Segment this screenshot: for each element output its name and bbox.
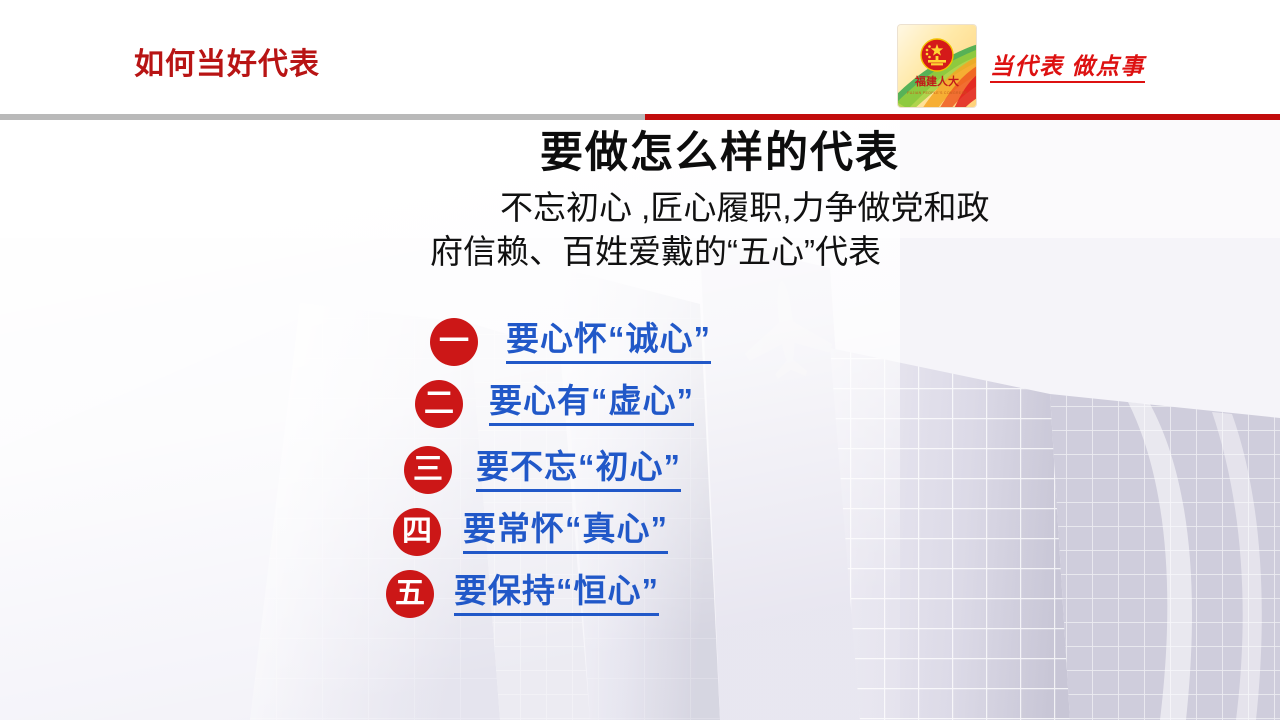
fujian-pc-logo: 福建人大 FUJIAN PEOPLE'S CONGRESS	[898, 25, 976, 107]
list-item[interactable]: 五 要保持“恒心”	[386, 566, 659, 622]
point-text[interactable]: 要保持“恒心”	[454, 572, 659, 616]
number-badge-four: 四	[393, 508, 441, 556]
point-text[interactable]: 要心有“虚心”	[489, 382, 694, 426]
list-item[interactable]: 二 要心有“虚心”	[415, 376, 694, 432]
point-text[interactable]: 要常怀“真心”	[463, 510, 668, 554]
main-title: 要做怎么样的代表	[430, 130, 1010, 177]
number-badge-two: 二	[415, 380, 463, 428]
logo-caption: 福建人大	[914, 74, 959, 88]
lead-paragraph: 不忘初心 ,匠心履职,力争做党和政府信赖、百姓爱戴的“五心”代表	[430, 186, 990, 274]
slide-header: 如何当好代表	[0, 0, 1280, 112]
number-badge-three: 三	[404, 446, 452, 494]
list-item[interactable]: 四 要常怀“真心”	[393, 504, 668, 560]
list-item[interactable]: 三 要不忘“初心”	[404, 442, 681, 498]
brand-slogan: 当代表 做点事	[990, 53, 1145, 83]
point-text[interactable]: 要心怀“诚心”	[506, 320, 711, 364]
slide: 如何当好代表	[0, 0, 1280, 720]
logo-caption-sub: FUJIAN PEOPLE'S CONGRESS	[907, 91, 967, 95]
number-badge-one: 一	[430, 318, 478, 366]
page-title: 如何当好代表	[134, 50, 320, 80]
list-item[interactable]: 一 要心怀“诚心”	[430, 314, 711, 370]
point-text[interactable]: 要不忘“初心”	[476, 448, 681, 492]
number-badge-five: 五	[386, 570, 434, 618]
slide-content: 要做怎么样的代表 不忘初心 ,匠心履职,力争做党和政府信赖、百姓爱戴的“五心”代…	[0, 118, 1280, 720]
